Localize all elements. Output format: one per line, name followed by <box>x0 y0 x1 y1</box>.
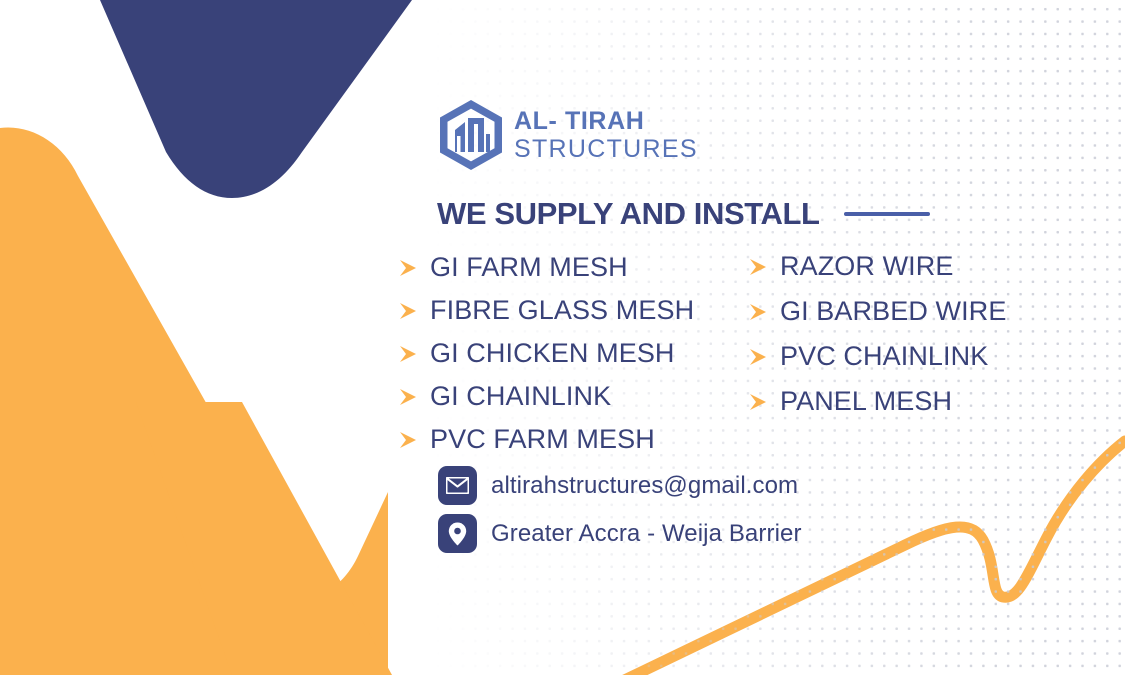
arrow-right-icon <box>398 301 418 321</box>
service-label: PANEL MESH <box>780 386 952 417</box>
service-label: RAZOR WIRE <box>780 251 954 282</box>
contact-email-row[interactable]: altirahstructures@gmail.com <box>438 466 802 505</box>
arrow-right-icon <box>748 257 768 277</box>
list-item: PANEL MESH <box>748 379 1006 424</box>
service-label: GI CHAINLINK <box>430 381 611 412</box>
hexagon-building-icon <box>440 100 502 170</box>
location-text: Greater Accra - Weija Barrier <box>491 520 802 548</box>
arrow-right-icon <box>748 302 768 322</box>
orange-chevron-shape <box>0 127 388 675</box>
list-item: PVC FARM MESH <box>398 418 694 461</box>
list-item: GI FARM MESH <box>398 246 694 289</box>
brand-logo: AL- TIRAH STRUCTURES <box>440 100 698 170</box>
list-item: GI CHAINLINK <box>398 375 694 418</box>
list-item: RAZOR WIRE <box>748 244 1006 289</box>
contact-block: altirahstructures@gmail.com Greater Accr… <box>438 466 802 553</box>
orange-band-lower <box>0 492 388 675</box>
brand-name-line1: AL- TIRAH <box>514 109 698 134</box>
arrow-right-icon <box>398 258 418 278</box>
list-item: GI CHICKEN MESH <box>398 332 694 375</box>
arrow-right-icon <box>398 430 418 450</box>
services-left-column: GI FARM MESH FIBRE GLASS MESH GI CHICKEN… <box>398 246 694 461</box>
brand-name-line2: STRUCTURES <box>514 137 698 162</box>
arrow-right-icon <box>398 387 418 407</box>
contact-location-row[interactable]: Greater Accra - Weija Barrier <box>438 514 802 553</box>
list-item: FIBRE GLASS MESH <box>398 289 694 332</box>
service-label: GI CHICKEN MESH <box>430 338 675 369</box>
list-item: PVC CHAINLINK <box>748 334 1006 379</box>
service-label: FIBRE GLASS MESH <box>430 295 694 326</box>
service-label: GI BARBED WIRE <box>780 296 1006 327</box>
arrow-right-icon <box>398 344 418 364</box>
map-pin-icon <box>438 514 477 553</box>
services-right-column: RAZOR WIRE GI BARBED WIRE PVC CHAINLINK … <box>748 244 1006 424</box>
headline-divider <box>844 212 930 216</box>
arrow-right-icon <box>748 392 768 412</box>
business-card: AL- TIRAH STRUCTURES WE SUPPLY AND INSTA… <box>0 0 1125 675</box>
service-label: GI FARM MESH <box>430 252 628 283</box>
service-label: PVC FARM MESH <box>430 424 655 455</box>
envelope-icon <box>438 466 477 505</box>
arrow-right-icon <box>748 347 768 367</box>
list-item: GI BARBED WIRE <box>748 289 1006 334</box>
navy-v-shape <box>100 0 412 198</box>
orange-diagonal-band <box>136 402 392 675</box>
headline-row: WE SUPPLY AND INSTALL <box>437 196 930 232</box>
email-text: altirahstructures@gmail.com <box>491 472 798 500</box>
service-label: PVC CHAINLINK <box>780 341 988 372</box>
headline-text: WE SUPPLY AND INSTALL <box>437 196 820 232</box>
